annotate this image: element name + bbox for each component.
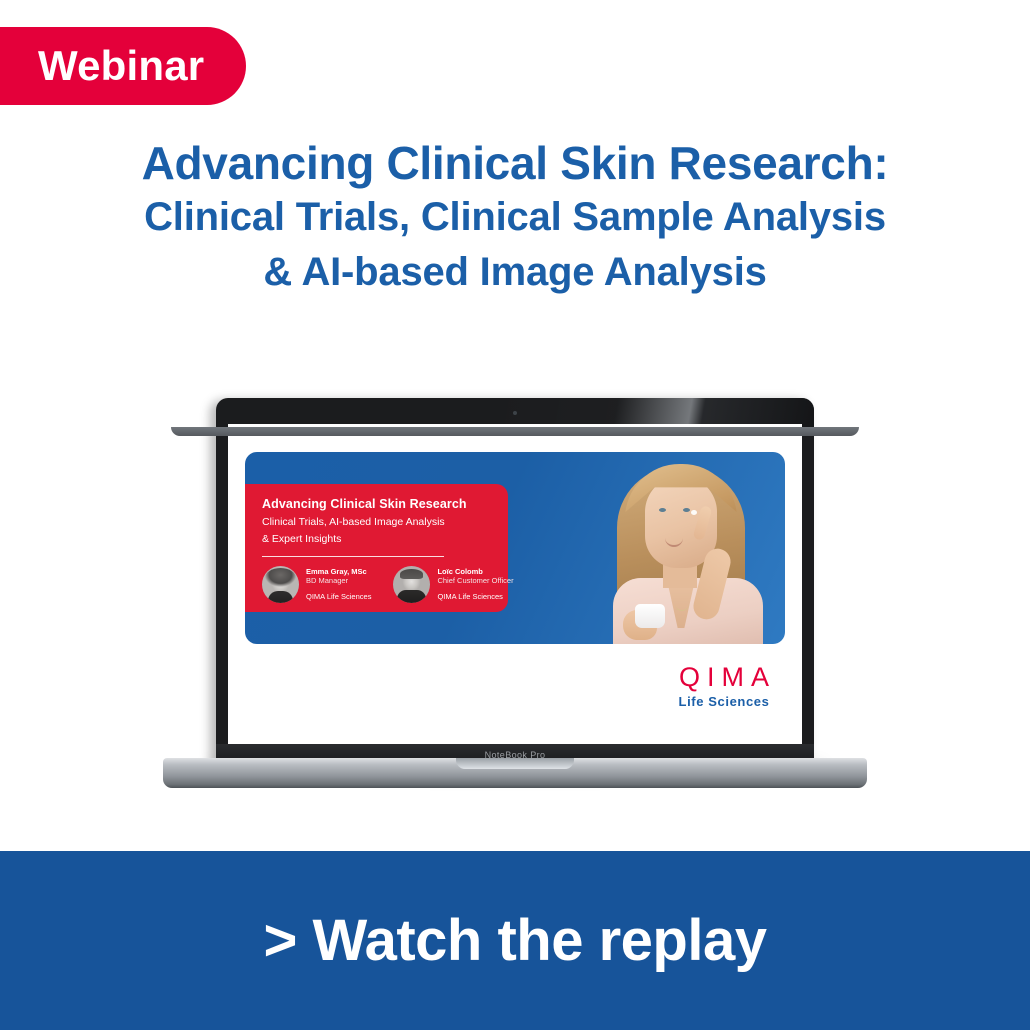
slide-red-card: Advancing Clinical Skin Research Clinica…	[245, 484, 508, 612]
webinar-badge-label: Webinar	[38, 45, 204, 87]
speaker-info: Emma Gray, MSc BD Manager QIMA Life Scie…	[306, 567, 371, 602]
photo-eye-right	[683, 508, 690, 512]
qima-logo-wordmark: QIMA	[672, 664, 776, 691]
speaker-info: Loïc Colomb Chief Customer Officer QIMA …	[437, 567, 513, 602]
avatar	[262, 566, 299, 603]
speaker-org: QIMA Life Sciences	[437, 592, 513, 601]
laptop-mockup: Advancing Clinical Skin Research Clinica…	[163, 398, 867, 808]
laptop-lid: Advancing Clinical Skin Research Clinica…	[216, 398, 814, 766]
laptop-base	[163, 758, 867, 788]
slide-banner: Advancing Clinical Skin Research Clinica…	[245, 452, 785, 644]
speaker-item: Loïc Colomb Chief Customer Officer QIMA …	[393, 566, 513, 603]
presentation-slide: Advancing Clinical Skin Research Clinica…	[228, 424, 802, 744]
webinar-badge: Webinar	[0, 27, 246, 105]
qima-logo: QIMA Life Sciences	[672, 664, 776, 708]
watch-replay-label: > Watch the replay	[264, 912, 767, 970]
speaker-item: Emma Gray, MSc BD Manager QIMA Life Scie…	[262, 566, 371, 603]
page-title-line-2: Clinical Trials, Clinical Sample Analysi…	[0, 190, 1030, 245]
speaker-role: Chief Customer Officer	[437, 576, 513, 585]
photo-cream-dot	[691, 510, 697, 515]
page-title-line-1: Advancing Clinical Skin Research:	[0, 136, 1030, 190]
watch-replay-banner[interactable]: > Watch the replay	[0, 851, 1030, 1030]
laptop-screen: Advancing Clinical Skin Research Clinica…	[228, 424, 802, 744]
slide-subtitle-line-1: Clinical Trials, AI-based Image Analysis	[262, 516, 492, 529]
laptop-base-foot	[171, 427, 859, 436]
model-photo	[579, 452, 785, 644]
page-title-line-3: & AI-based Image Analysis	[0, 245, 1030, 300]
photo-cream-jar	[635, 604, 665, 628]
speaker-org: QIMA Life Sciences	[306, 592, 371, 601]
speaker-name: Emma Gray, MSc	[306, 567, 371, 576]
webinar-promo-page: Webinar Advancing Clinical Skin Research…	[0, 0, 1030, 1030]
speaker-list: Emma Gray, MSc BD Manager QIMA Life Scie…	[262, 566, 492, 603]
webcam-icon	[513, 411, 517, 415]
qima-logo-tagline: Life Sciences	[672, 695, 776, 708]
page-title: Advancing Clinical Skin Research: Clinic…	[0, 136, 1030, 301]
slide-divider	[262, 556, 444, 557]
avatar	[393, 566, 430, 603]
speaker-role: BD Manager	[306, 576, 371, 585]
slide-title: Advancing Clinical Skin Research	[262, 498, 492, 512]
laptop-base-notch	[456, 758, 574, 769]
slide-subtitle-line-2: & Expert Insights	[262, 533, 492, 546]
photo-eye-left	[659, 508, 666, 512]
speaker-name: Loïc Colomb	[437, 567, 513, 576]
